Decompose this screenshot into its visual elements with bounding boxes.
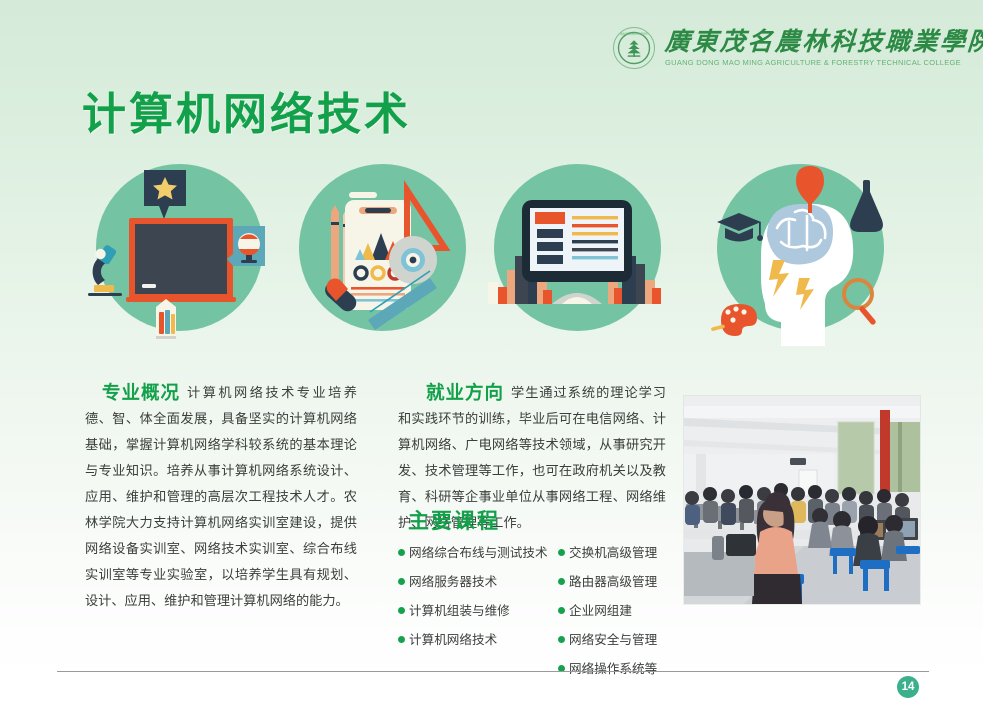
illustration-band (0, 160, 983, 355)
overview-paragraph: 专业概况计算机网络技术专业培养德、智、体全面发展，具备坚实的计算机网络基础，掌握… (85, 381, 357, 615)
list-item: 交换机高级管理 (558, 545, 670, 561)
star-badge-icon (144, 170, 186, 219)
school-seal-pine-tree-icon: 廣東茂名農林科技職業學院 (612, 26, 656, 70)
computer-monitor-illustration (480, 160, 675, 355)
slide-canvas: 廣東茂名農林科技職業學院 廣東茂名農林科技職業學院 GUANG DONG MAO… (0, 0, 983, 719)
course-label: 网络综合布线与测试技术 (409, 545, 548, 561)
course-label: 计算机组装与维修 (409, 603, 510, 619)
courses-section: 主要课程 网络综合布线与测试技术 网络服务器技术 计算机组装与维修 计算机网络技… (398, 505, 670, 690)
list-item: 路由器高级管理 (558, 574, 670, 590)
school-name-cn: 廣東茂名農林科技職業學院 (664, 29, 983, 54)
list-item: 网络综合布线与测试技术 (398, 545, 546, 561)
course-label: 路由器高级管理 (569, 574, 657, 590)
course-label: 网络安全与管理 (569, 632, 657, 648)
page-title: 计算机网络技术 (82, 78, 411, 142)
overview-body: 计算机网络技术专业培养德、智、体全面发展，具备坚实的计算机网络基础，掌握计算机网… (85, 386, 357, 609)
flask-icon (850, 180, 883, 232)
bullet-dot-icon (398, 578, 405, 585)
page-number-badge: 14 (897, 676, 919, 698)
school-name-block: 廣東茂名農林科技職業學院 GUANG DONG MAO MING AGRICUL… (665, 29, 983, 66)
design-tools-illustration (285, 160, 480, 355)
graduation-cap-icon (717, 213, 763, 242)
computer-lab-classroom-photo (684, 396, 920, 604)
course-label: 企业网组建 (569, 603, 632, 619)
bullet-dot-icon (558, 578, 565, 585)
bullet-dot-icon (558, 607, 565, 614)
cd-disc-icon (389, 236, 437, 284)
school-name-en: GUANG DONG MAO MING AGRICULTURE & FOREST… (665, 59, 983, 66)
course-label: 网络操作系统等 (569, 661, 657, 677)
footer-divider (57, 671, 929, 672)
list-item: 计算机网络技术 (398, 632, 546, 648)
books-icon (156, 299, 176, 340)
course-label: 网络服务器技术 (409, 574, 497, 590)
overview-heading: 专业概况 (102, 381, 180, 407)
bullet-dot-icon (398, 607, 405, 614)
courses-left-column: 网络综合布线与测试技术 网络服务器技术 计算机组装与维修 计算机网络技术 (398, 545, 546, 690)
bullet-dot-icon (398, 549, 405, 556)
courses-heading: 主要课程 (408, 505, 670, 535)
bullet-dot-icon (558, 636, 565, 643)
palette-icon (711, 304, 757, 336)
courses-right-column: 交换机高级管理 路由器高级管理 企业网组建 网络安全与管理 网络操作系统等 (558, 545, 670, 690)
microscope-icon (88, 244, 122, 296)
employment-heading: 就业方向 (426, 381, 504, 407)
course-label: 交换机高级管理 (569, 545, 657, 561)
svg-text:廣東茂名農林科技職業學院: 廣東茂名農林科技職業學院 (620, 31, 648, 35)
list-item: 网络安全与管理 (558, 632, 670, 648)
list-item: 网络操作系统等 (558, 661, 670, 677)
list-item: 计算机组装与维修 (398, 603, 546, 619)
bullet-dot-icon (398, 636, 405, 643)
brain-thinking-illustration (703, 160, 898, 355)
courses-columns: 网络综合布线与测试技术 网络服务器技术 计算机组装与维修 计算机网络技术 (398, 545, 670, 690)
course-label: 计算机网络技术 (409, 632, 497, 648)
list-item: 企业网组建 (558, 603, 670, 619)
blackboard-icon (126, 218, 236, 302)
list-item: 网络服务器技术 (398, 574, 546, 590)
bullet-dot-icon (558, 549, 565, 556)
blackboard-education-illustration (82, 160, 277, 355)
overview-section: 专业概况计算机网络技术专业培养德、智、体全面发展，具备坚实的计算机网络基础，掌握… (85, 368, 357, 628)
school-logo-block: 廣東茂名農林科技職業學院 廣東茂名農林科技職業學院 GUANG DONG MAO… (612, 26, 983, 70)
magnifier-icon (844, 280, 877, 326)
